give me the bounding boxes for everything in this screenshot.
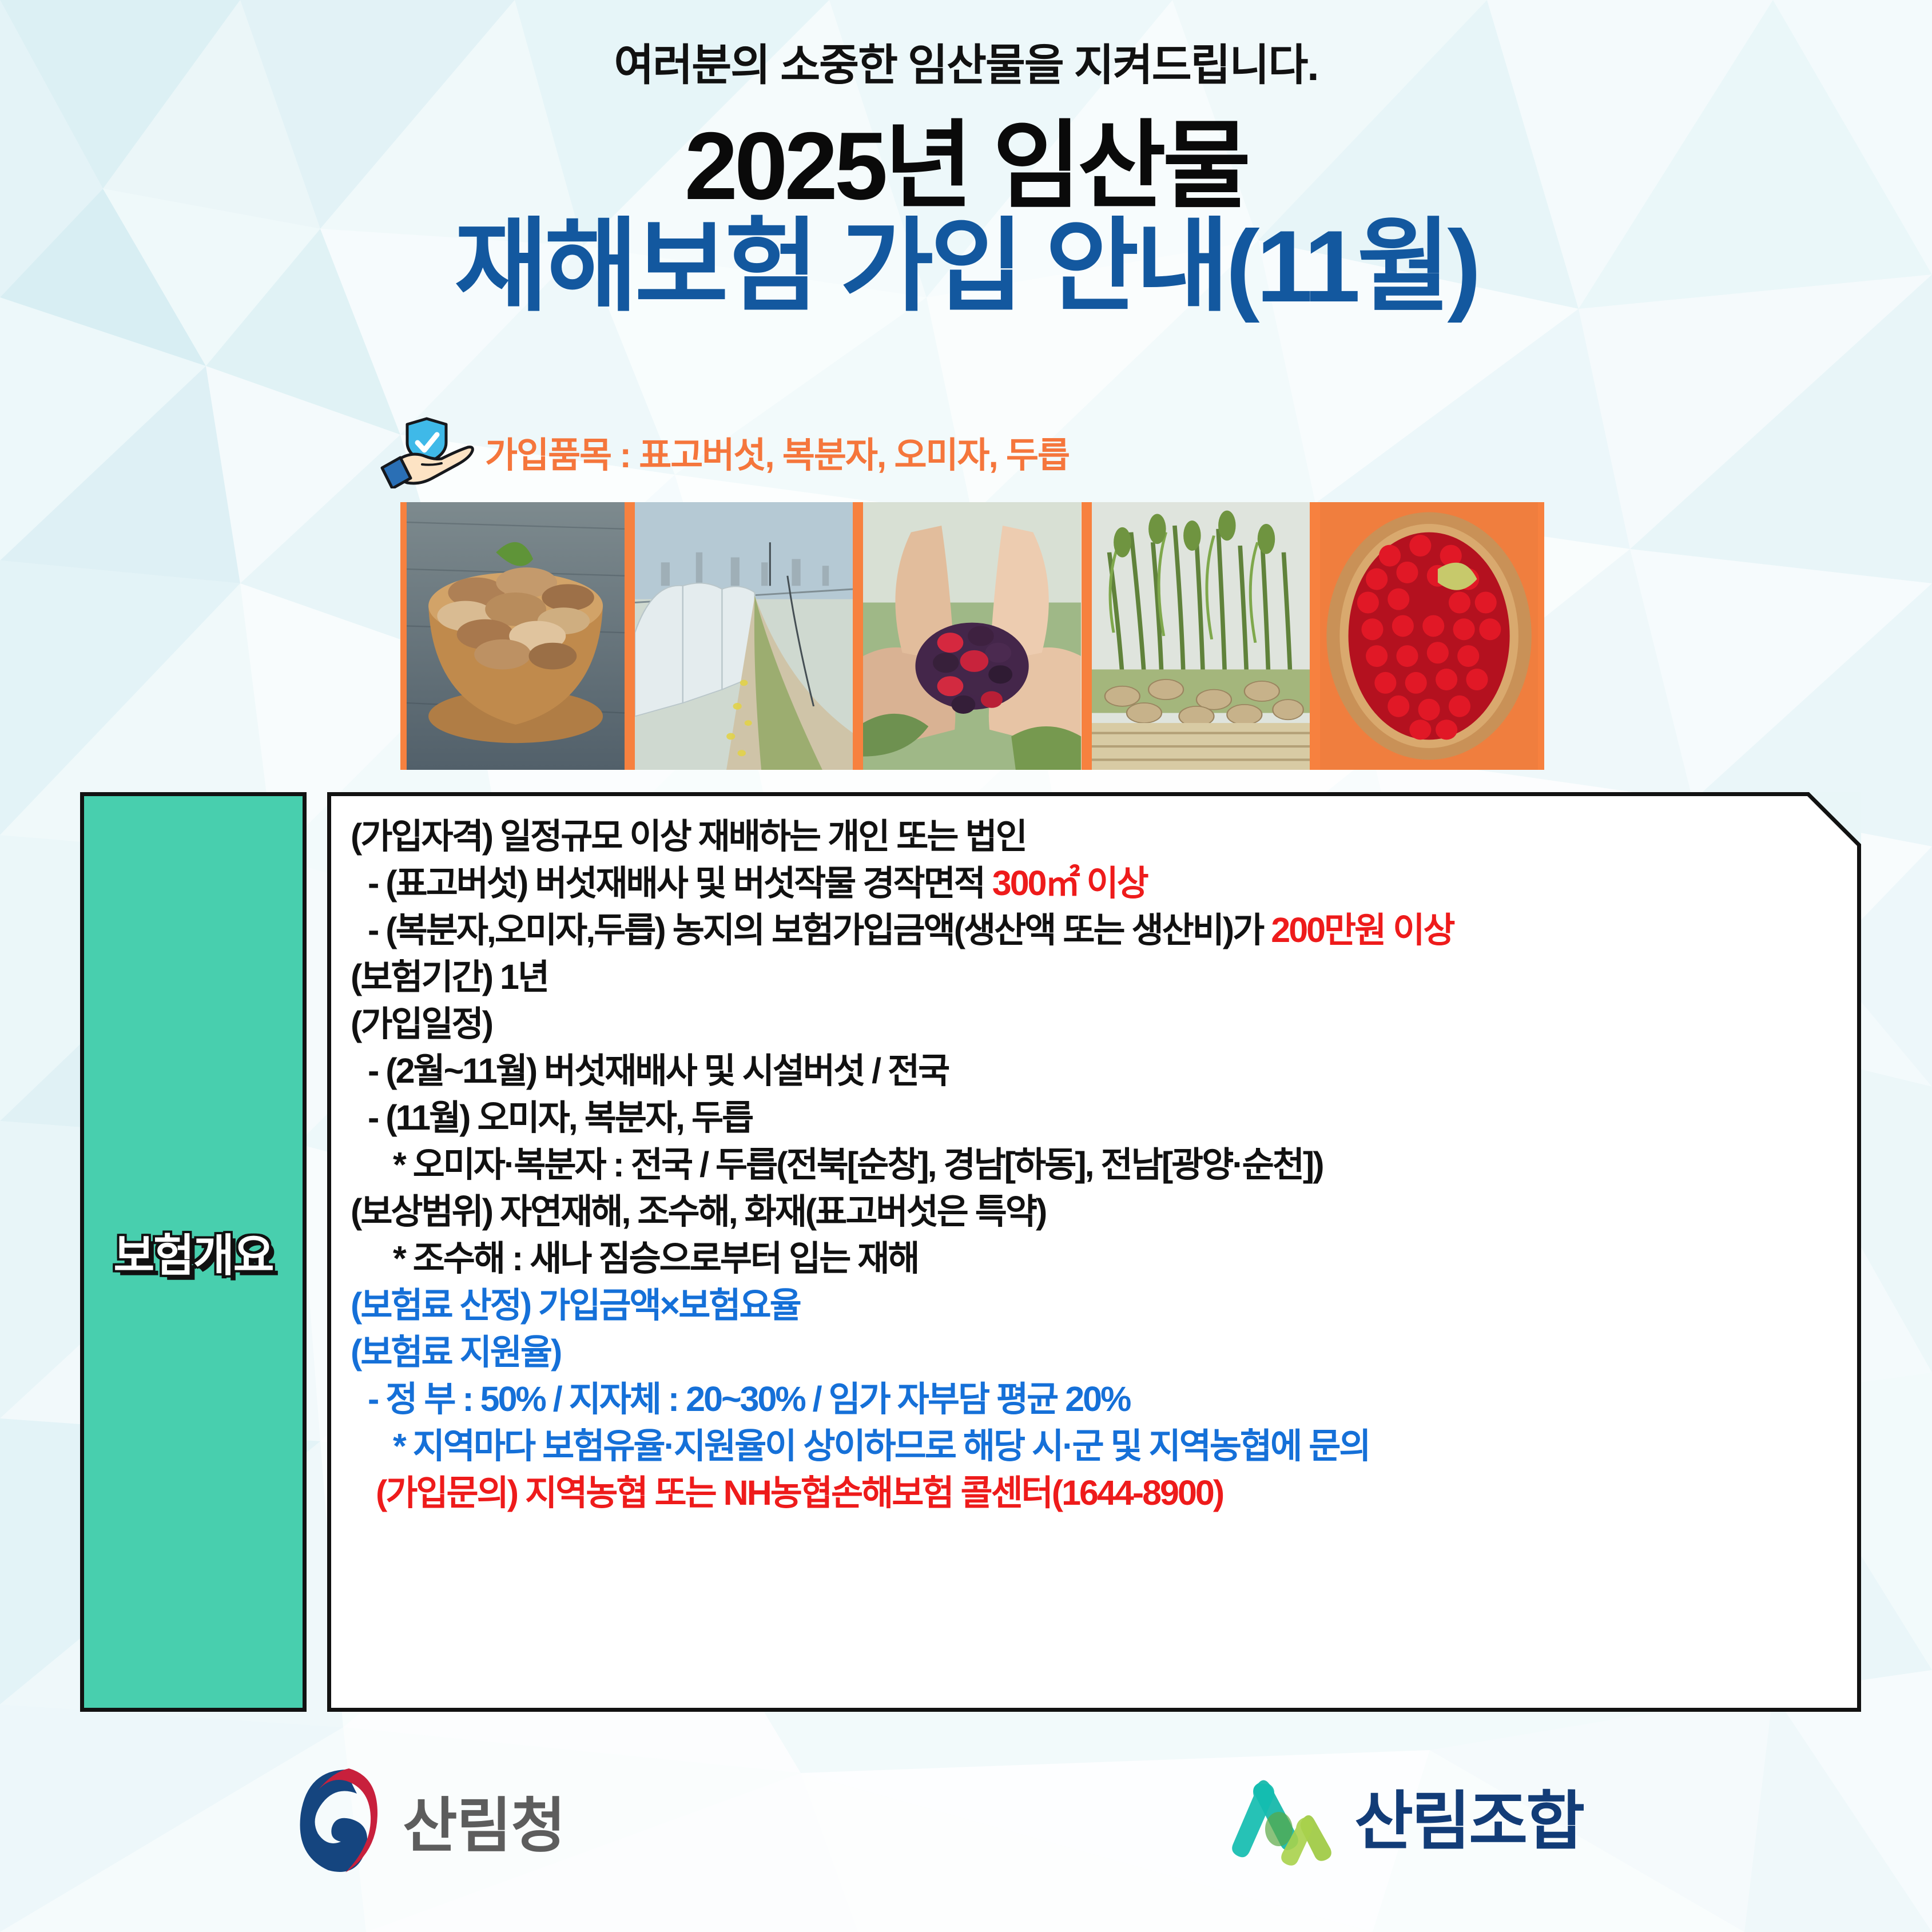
- overview-line-text: (보상범위) 자연재해, 조수해, 화재(표고버섯은 특약): [351, 1192, 1045, 1231]
- overview-line-text: - (표고버섯) 버섯재배사 및 버섯작물 경작면적: [368, 864, 992, 903]
- photo-omija-berries-in-bowl: [1315, 502, 1544, 770]
- page-title-line2: 재해보험 가입 안내(11월): [0, 212, 1932, 321]
- overview-line: - (복분자,오미자,두릅) 농지의 보험가입금액(생산액 또는 생산비)가 2…: [351, 913, 1840, 948]
- overview-line-text: (가입일정): [351, 1004, 492, 1043]
- logo-forest-cooperative-label: 산림조합: [1354, 1770, 1583, 1862]
- overview-line: - 정 부 : 50% / 지자체 : 20~30% / 임가 자부담 평균 2…: [351, 1382, 1840, 1417]
- photo-greenhouse-row: [630, 502, 858, 770]
- logo-korea-forest-service-label: 산림청: [403, 1777, 565, 1863]
- overview-line: * 지역마다 보험유율·지원율이 상이하므로 해당 시·군 및 지역농협에 문의: [351, 1429, 1840, 1464]
- overview-line-text: - (2월~11월) 버섯재배사 및 시설버섯 / 전국: [368, 1051, 948, 1090]
- section-tab-insurance-overview: 보험개요: [80, 792, 307, 1712]
- overview-line-text: * 지역마다 보험유율·지원율이 상이하므로 해당 시·군 및 지역농협에 문의: [393, 1426, 1369, 1465]
- overview-line-text: - (복분자,오미자,두릅) 농지의 보험가입금액(생산액 또는 생산비)가: [368, 911, 1271, 949]
- overview-line-text: - 정 부 : 50% / 지자체 : 20~30% / 임가 자부담 평균 2…: [368, 1380, 1130, 1418]
- overview-line-text: * 오미자·복분자 : 전국 / 두릅(전북[순창], 경남[하동], 전남[광…: [393, 1145, 1323, 1184]
- logo-forest-cooperative: 산림조합: [1224, 1763, 1583, 1869]
- photo-shiitake-mushrooms-in-bowl: [400, 502, 630, 770]
- overview-line: * 오미자·복분자 : 전국 / 두릅(전북[순창], 경남[하동], 전남[광…: [351, 1147, 1840, 1182]
- overview-line-highlight: 200만원 이상: [1271, 911, 1453, 949]
- footer-logos: 산림청 산림조합: [0, 1750, 1932, 1932]
- overview-line: (보험료 지원율): [351, 1335, 1840, 1370]
- overview-line: * 조수해 : 새나 짐승으로부터 입는 재해: [351, 1241, 1840, 1276]
- photo-dureup-shoots-in-basket: [1087, 502, 1315, 770]
- overview-line-text: * 조수해 : 새나 짐승으로부터 입는 재해: [393, 1239, 919, 1278]
- page-title-line1: 2025년 임산물: [0, 112, 1932, 220]
- korea-government-taegeuk-icon: [286, 1764, 383, 1876]
- overview-line-list: (가입자격) 일정규모 이상 재배하는 개인 또는 법인- (표고버섯) 버섯재…: [331, 796, 1857, 1510]
- eligible-items-label: 가입품목 : 표고버섯, 복분자, 오미자, 두릅: [485, 426, 1069, 478]
- section-tab-label: 보험개요: [113, 1220, 273, 1284]
- overview-line: (가입일정): [351, 1007, 1840, 1041]
- overview-line-text: (보험료 산정) 가입금액×보험요율: [351, 1286, 800, 1325]
- overview-line: - (표고버섯) 버섯재배사 및 버섯작물 경작면적 300㎡ 이상: [351, 866, 1840, 901]
- folded-corner-line-icon: [1806, 792, 1861, 847]
- logo-korea-forest-service: 산림청: [286, 1764, 565, 1876]
- overview-line-text: (보험료 지원율): [351, 1333, 560, 1372]
- overview-line-text: (보험기간) 1년: [351, 957, 548, 996]
- overview-line: (보상범위) 자연재해, 조수해, 화재(표고버섯은 특약): [351, 1194, 1840, 1229]
- hand-holding-shield-icon: [377, 415, 475, 488]
- insurance-overview-panel: (가입자격) 일정규모 이상 재배하는 개인 또는 법인- (표고버섯) 버섯재…: [327, 792, 1861, 1712]
- overview-line: (가입문의) 지역농협 또는 NH농협손해보험 콜센터(1644-8900): [351, 1476, 1840, 1510]
- product-photo-strip: [400, 502, 1544, 770]
- forest-cooperative-mountain-icon: [1224, 1763, 1338, 1869]
- header-kicker: 여러분의 소중한 임산물을 지켜드립니다.: [0, 30, 1932, 93]
- overview-line: - (11월) 오미자, 복분자, 두릅: [351, 1100, 1840, 1135]
- overview-line: (보험료 산정) 가입금액×보험요율: [351, 1288, 1840, 1323]
- overview-line-text: (가입문의) 지역농협 또는 NH농협손해보험 콜센터(1644-8900): [376, 1473, 1223, 1512]
- overview-line-text: - (11월) 오미자, 복분자, 두릅: [368, 1098, 752, 1137]
- photo-hands-holding-bokbunja-berries: [858, 502, 1086, 770]
- overview-line-text: (가입자격) 일정규모 이상 재배하는 개인 또는 법인: [351, 817, 1026, 856]
- overview-line-highlight: 300㎡ 이상: [992, 864, 1147, 903]
- poster-header: 여러분의 소중한 임산물을 지켜드립니다. 2025년 임산물 재해보험 가입 …: [0, 0, 1932, 321]
- overview-line: - (2월~11월) 버섯재배사 및 시설버섯 / 전국: [351, 1054, 1840, 1088]
- overview-line: (보험기간) 1년: [351, 960, 1840, 995]
- eligible-items-row: 가입품목 : 표고버섯, 복분자, 오미자, 두릅: [377, 415, 1069, 488]
- overview-line: (가입자격) 일정규모 이상 재배하는 개인 또는 법인: [351, 819, 1840, 854]
